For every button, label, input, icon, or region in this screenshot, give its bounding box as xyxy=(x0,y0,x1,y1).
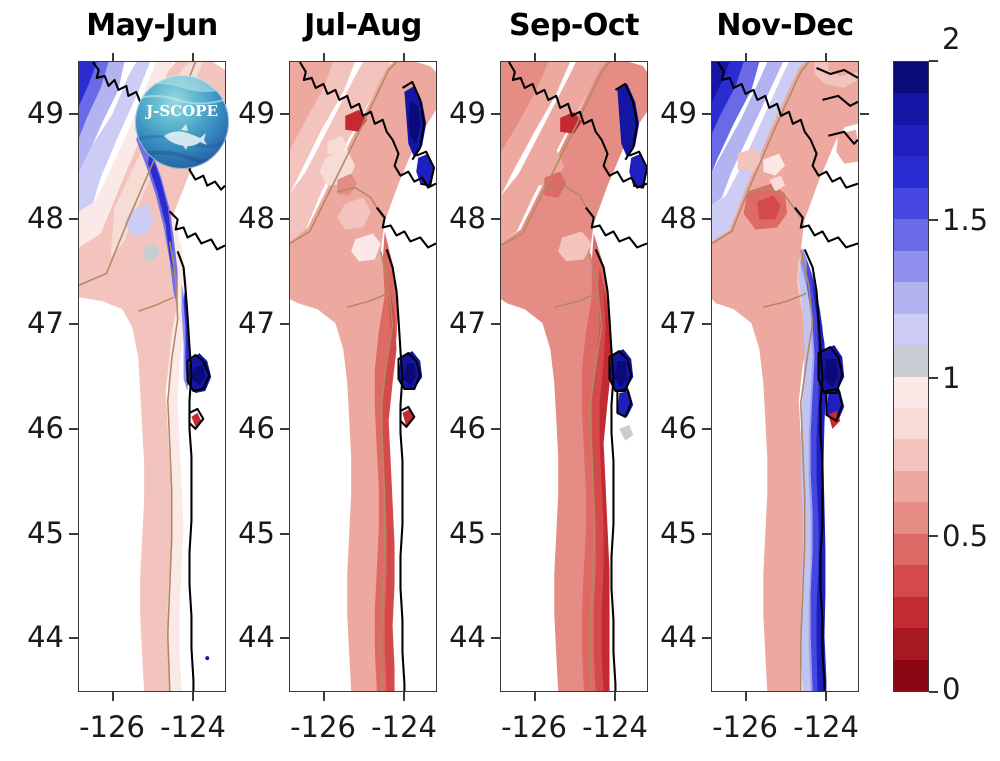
xtick-mark-top-p4-126 xyxy=(745,53,747,62)
colorbar-tick-mark-2 xyxy=(929,60,938,62)
ytick-mark-p3-47 xyxy=(491,323,500,325)
ytick-label-p4-48: 48 xyxy=(645,201,697,235)
ytick-label-p1-47: 47 xyxy=(12,306,64,340)
colorbar-label-2: 2 xyxy=(942,22,960,56)
colorbar-label-1.5: 1.5 xyxy=(942,203,988,237)
colorbar-band-15 xyxy=(894,534,928,565)
colorbar-band-10 xyxy=(894,377,928,408)
xtick-mark-p3-124 xyxy=(614,692,616,701)
colorbar-band-13 xyxy=(894,471,928,502)
ytick-mark-p1-44 xyxy=(69,637,78,639)
colorbar-band-8 xyxy=(894,314,928,345)
ytick-mark-p2-45 xyxy=(280,533,289,535)
ytick-mark-p3-44 xyxy=(491,637,500,639)
ytick-label-p3-49: 49 xyxy=(434,96,486,130)
xtick-mark-p3-126 xyxy=(534,692,536,701)
ytick-label-p3-45: 45 xyxy=(434,516,486,550)
ytick-label-p3-44: 44 xyxy=(434,620,486,654)
figure-canvas: May-Jun Jul-Aug Sep-Oct Nov-Dec xyxy=(0,0,1000,761)
colorbar-band-17 xyxy=(894,597,928,628)
ytick-label-p2-49: 49 xyxy=(223,96,275,130)
xtick-label-p4-124: -124 xyxy=(776,710,876,744)
xtick-mark-p2-126 xyxy=(323,692,325,701)
ytick-mark-p2-48 xyxy=(280,218,289,220)
xtick-mark-p2-124 xyxy=(403,692,405,701)
ytick-label-p1-44: 44 xyxy=(12,620,64,654)
ytick-mark-p2-44 xyxy=(280,637,289,639)
colorbar-band-11 xyxy=(894,408,928,439)
ytick-mark-p4-48 xyxy=(702,218,711,220)
ytick-label-p2-45: 45 xyxy=(223,516,275,550)
ytick-label-p1-45: 45 xyxy=(12,516,64,550)
xtick-mark-top-p3-126 xyxy=(534,53,536,62)
ytick-label-p4-44: 44 xyxy=(645,620,697,654)
ytick-mark-p1-45 xyxy=(69,533,78,535)
ytick-label-p3-47: 47 xyxy=(434,306,486,340)
colorbar[interactable] xyxy=(893,61,929,692)
panel-title-nov-dec: Nov-Dec xyxy=(711,8,859,43)
xtick-mark-top-p4-124 xyxy=(825,53,827,62)
panel-title-sep-oct: Sep-Oct xyxy=(500,8,648,43)
colorbar-band-1 xyxy=(894,93,928,124)
j-scope-logo-graphic: J-SCOPE xyxy=(134,74,230,170)
ytick-label-p2-44: 44 xyxy=(223,620,275,654)
ytick-label-p1-48: 48 xyxy=(12,201,64,235)
ytick-label-p4-47: 47 xyxy=(645,306,697,340)
xtick-mark-p1-124 xyxy=(192,692,194,701)
xtick-mark-top-p2-124 xyxy=(403,53,405,62)
colorbar-band-2 xyxy=(894,125,928,156)
ytick-mark-p2-49 xyxy=(280,113,289,115)
colorbar-band-12 xyxy=(894,439,928,470)
xtick-mark-top-p1-124 xyxy=(192,53,194,62)
ytick-mark-p4-46 xyxy=(702,428,711,430)
ytick-mark-p4-47 xyxy=(702,323,711,325)
ytick-label-p3-46: 46 xyxy=(434,411,486,445)
colorbar-band-0 xyxy=(894,62,928,93)
xtick-mark-top-p3-124 xyxy=(614,53,616,62)
colorbar-tick-mark-0 xyxy=(929,691,938,693)
colorbar-band-9 xyxy=(894,345,928,376)
map-render-sep-oct xyxy=(501,62,647,691)
ytick-label-p4-49: 49 xyxy=(645,96,697,130)
ytick-mark-p3-48 xyxy=(491,218,500,220)
colorbar-tick-mark-1.5 xyxy=(929,219,938,221)
colorbar-band-19 xyxy=(894,660,928,691)
colorbar-band-6 xyxy=(894,251,928,282)
ytick-label-p4-45: 45 xyxy=(645,516,697,550)
map-render-nov-dec xyxy=(712,62,858,691)
j-scope-logo: J-SCOPE xyxy=(134,74,230,170)
ytick-mark-p1-49 xyxy=(69,113,78,115)
ytick-mark-p1-47 xyxy=(69,323,78,325)
ytick-label-p3-48: 48 xyxy=(434,201,486,235)
ytick-label-p2-46: 46 xyxy=(223,411,275,445)
map-panel-nov-dec[interactable] xyxy=(711,61,859,692)
j-scope-logo-text: J-SCOPE xyxy=(144,102,218,120)
map-panel-sep-oct[interactable] xyxy=(500,61,648,692)
ytick-mark-p3-46 xyxy=(491,428,500,430)
colorbar-band-3 xyxy=(894,156,928,187)
xtick-mark-p4-124 xyxy=(825,692,827,701)
colorbar-tick-mark-0.5 xyxy=(929,535,938,537)
colorbar-band-5 xyxy=(894,219,928,250)
ytick-label-p1-46: 46 xyxy=(12,411,64,445)
ytick-mark-p4-right-49 xyxy=(860,113,869,115)
panel-title-jul-aug: Jul-Aug xyxy=(289,8,437,43)
xtick-mark-p1-126 xyxy=(112,692,114,701)
ytick-mark-p3-49 xyxy=(491,113,500,115)
panel-title-may-jun: May-Jun xyxy=(78,8,226,43)
ytick-label-p2-47: 47 xyxy=(223,306,275,340)
xtick-label-p2-124: -124 xyxy=(354,710,454,744)
ytick-mark-p1-48 xyxy=(69,218,78,220)
colorbar-band-14 xyxy=(894,502,928,533)
map-panel-jul-aug[interactable] xyxy=(289,61,437,692)
ytick-label-p1-49: 49 xyxy=(12,96,64,130)
xtick-mark-top-p2-126 xyxy=(323,53,325,62)
colorbar-band-18 xyxy=(894,628,928,659)
ytick-mark-p2-47 xyxy=(280,323,289,325)
ytick-mark-p1-46 xyxy=(69,428,78,430)
colorbar-label-1: 1 xyxy=(942,361,960,395)
colorbar-label-0: 0 xyxy=(942,672,960,706)
ytick-mark-p3-45 xyxy=(491,533,500,535)
ytick-label-p4-46: 46 xyxy=(645,411,697,445)
xtick-label-p3-124: -124 xyxy=(565,710,665,744)
colorbar-tick-mark-1 xyxy=(929,377,938,379)
map-render-jul-aug xyxy=(290,62,436,691)
ytick-mark-p2-46 xyxy=(280,428,289,430)
xtick-mark-top-p1-126 xyxy=(112,53,114,62)
colorbar-band-7 xyxy=(894,282,928,313)
xtick-mark-p4-126 xyxy=(745,692,747,701)
ytick-mark-p4-44 xyxy=(702,637,711,639)
ytick-mark-p4-49 xyxy=(702,113,711,115)
xtick-label-p1-124: -124 xyxy=(143,710,243,744)
colorbar-band-4 xyxy=(894,188,928,219)
colorbar-band-16 xyxy=(894,565,928,596)
colorbar-label-0.5: 0.5 xyxy=(942,519,988,553)
colorbar-gradient xyxy=(894,62,928,691)
ytick-mark-p4-45 xyxy=(702,533,711,535)
ytick-label-p2-48: 48 xyxy=(223,201,275,235)
